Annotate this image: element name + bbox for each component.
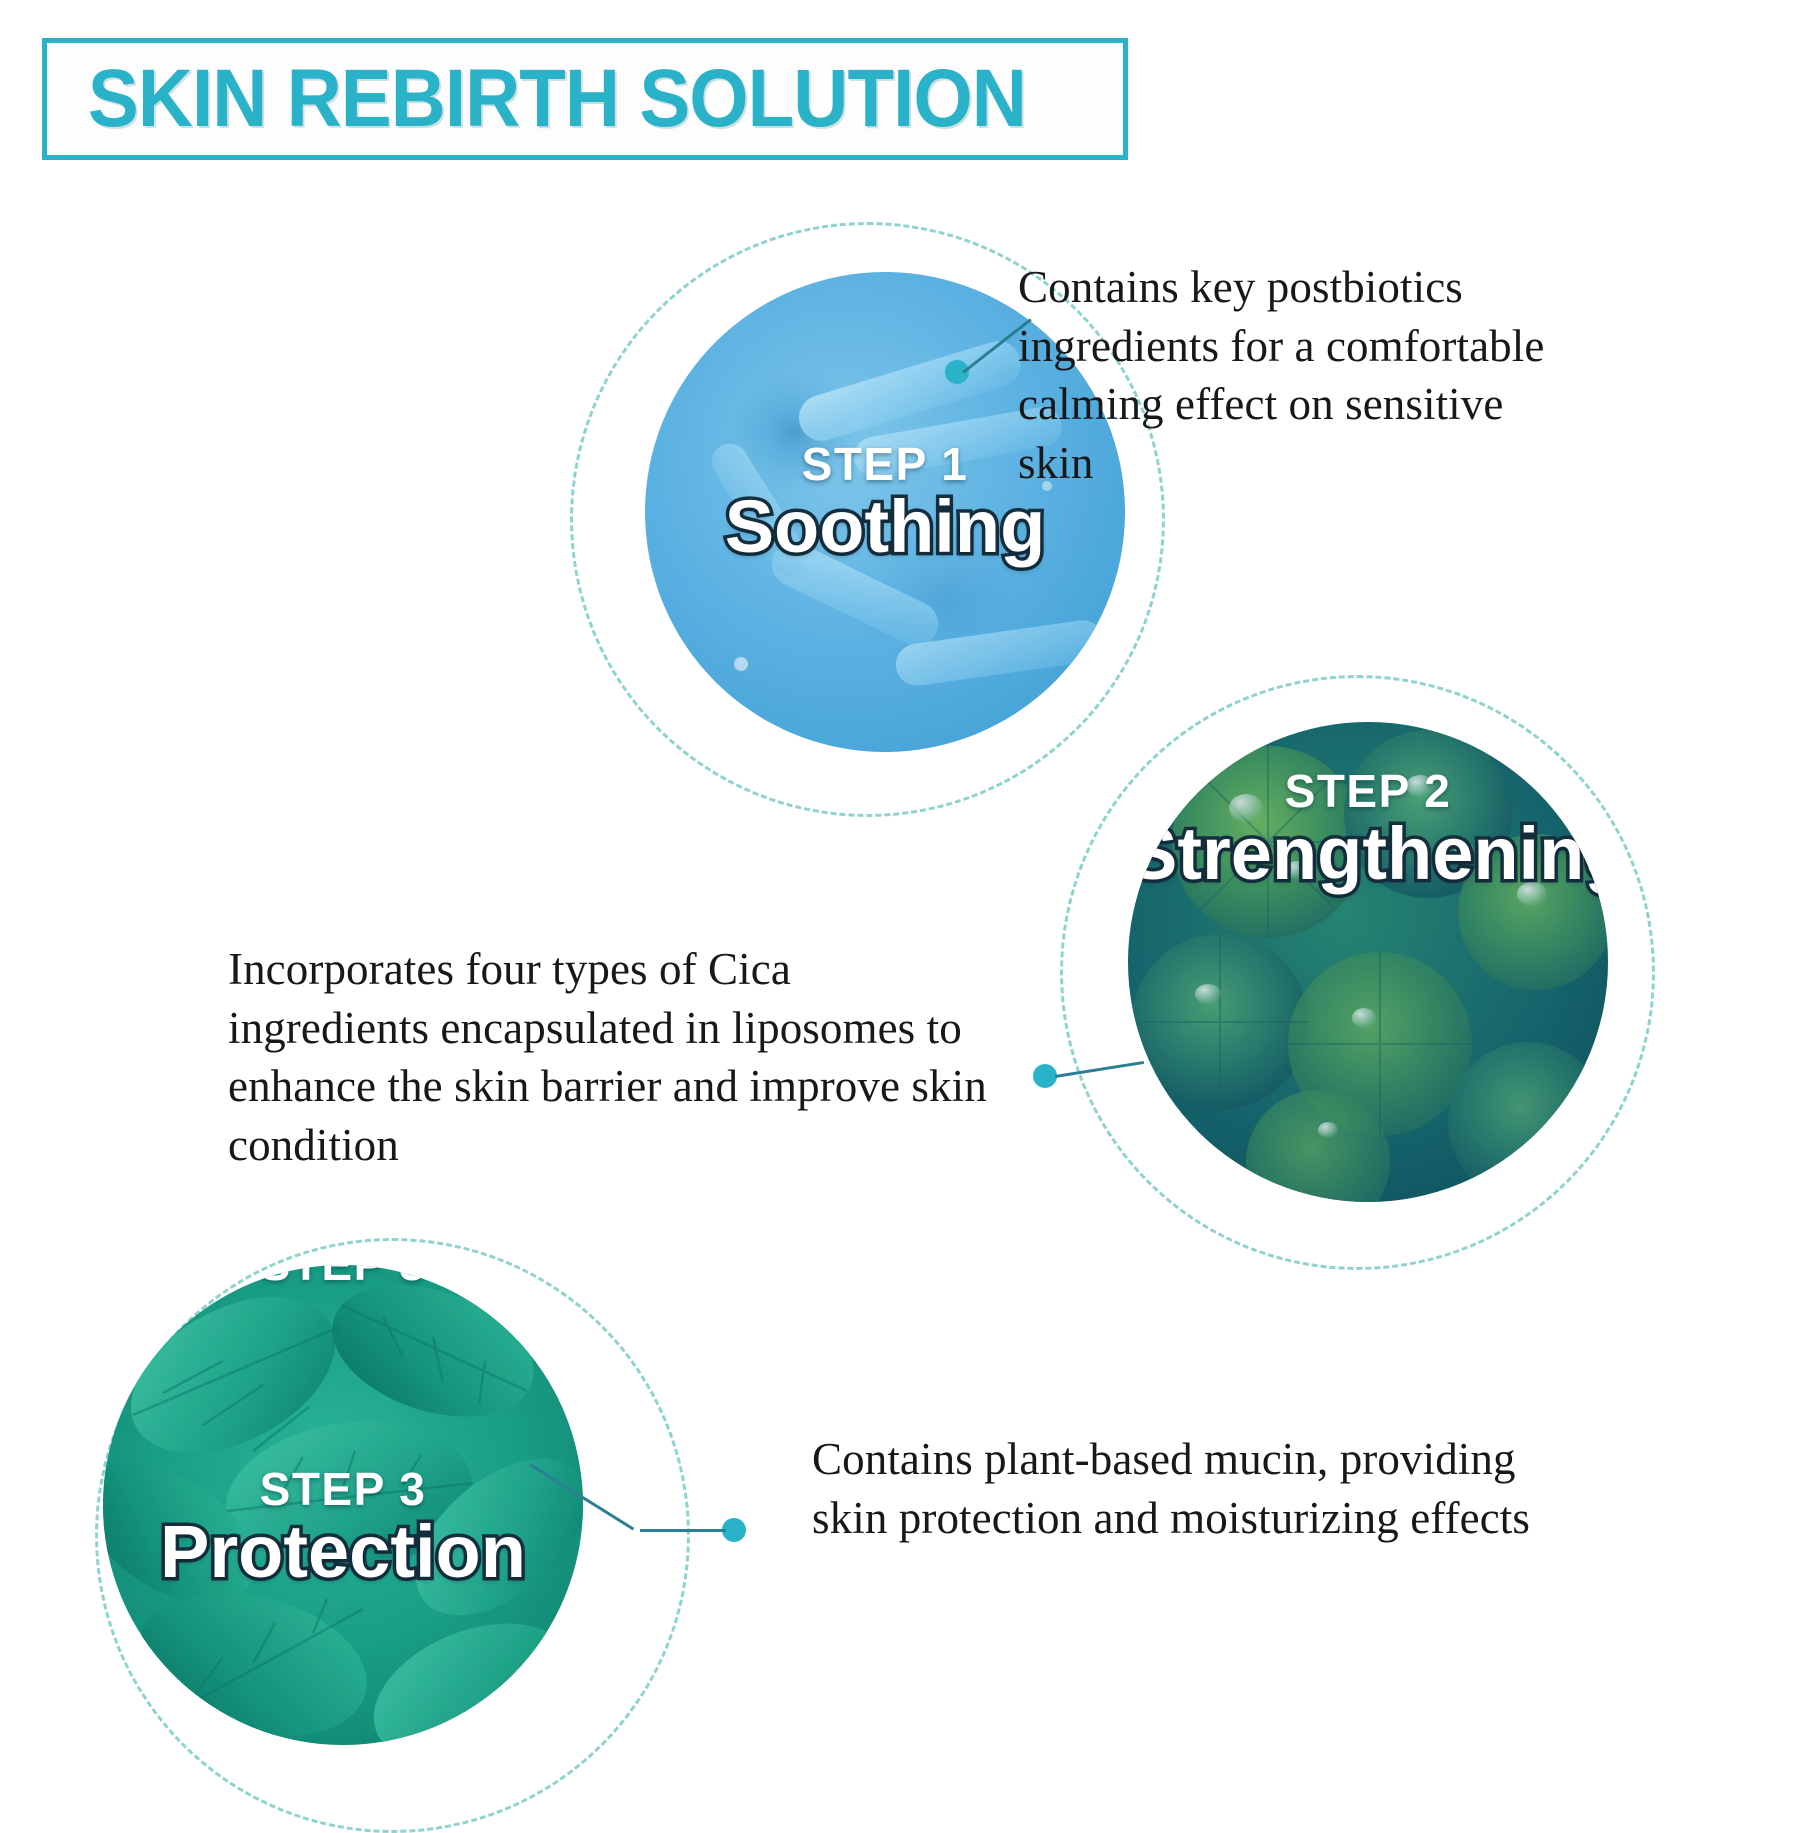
- page-title: SKIN REBIRTH SOLUTION: [47, 52, 1026, 146]
- step-1-kicker: STEP 1: [802, 438, 969, 490]
- callout-3: Contains plant-based mucin, providing sk…: [812, 1430, 1552, 1547]
- step-1-name-wrap: Soothing: [645, 484, 1125, 569]
- page-title-box: SKIN REBIRTH SOLUTION: [42, 38, 1128, 160]
- step-1-name: Soothing: [725, 485, 1046, 568]
- infographic-canvas: SKIN REBIRTH SOLUTION: [0, 0, 1800, 1800]
- callout-2-text: Incorporates four types of Cica ingredie…: [228, 944, 987, 1170]
- step-2-name: Strengthening: [1128, 812, 1608, 895]
- step-2-circle[interactable]: STEP 2 Strengthening: [1128, 722, 1608, 1202]
- step-1-kicker-wrap: STEP 1: [645, 437, 1125, 491]
- step-2-kicker-wrap: STEP 2: [1128, 764, 1608, 818]
- step-3-kicker-wrap: STEP 3: [103, 1265, 583, 1291]
- connector-2-dot: [1033, 1064, 1057, 1088]
- callout-2: Incorporates four types of Cica ingredie…: [228, 940, 988, 1174]
- step-3-kicker-overlay: STEP 3: [260, 1463, 427, 1515]
- connector-3-line-b: [640, 1529, 726, 1532]
- step-3-name: Protection: [160, 1510, 526, 1593]
- step-3-kicker-overlay-wrap: STEP 3: [103, 1462, 583, 1516]
- step-2-kicker: STEP 2: [1285, 765, 1452, 817]
- step-3-name-wrap: Protection: [103, 1509, 583, 1594]
- callout-3-text: Contains plant-based mucin, providing sk…: [812, 1434, 1530, 1543]
- step-3-kicker: STEP 3: [260, 1265, 427, 1290]
- step-2-name-wrap: Strengthening: [1128, 811, 1608, 896]
